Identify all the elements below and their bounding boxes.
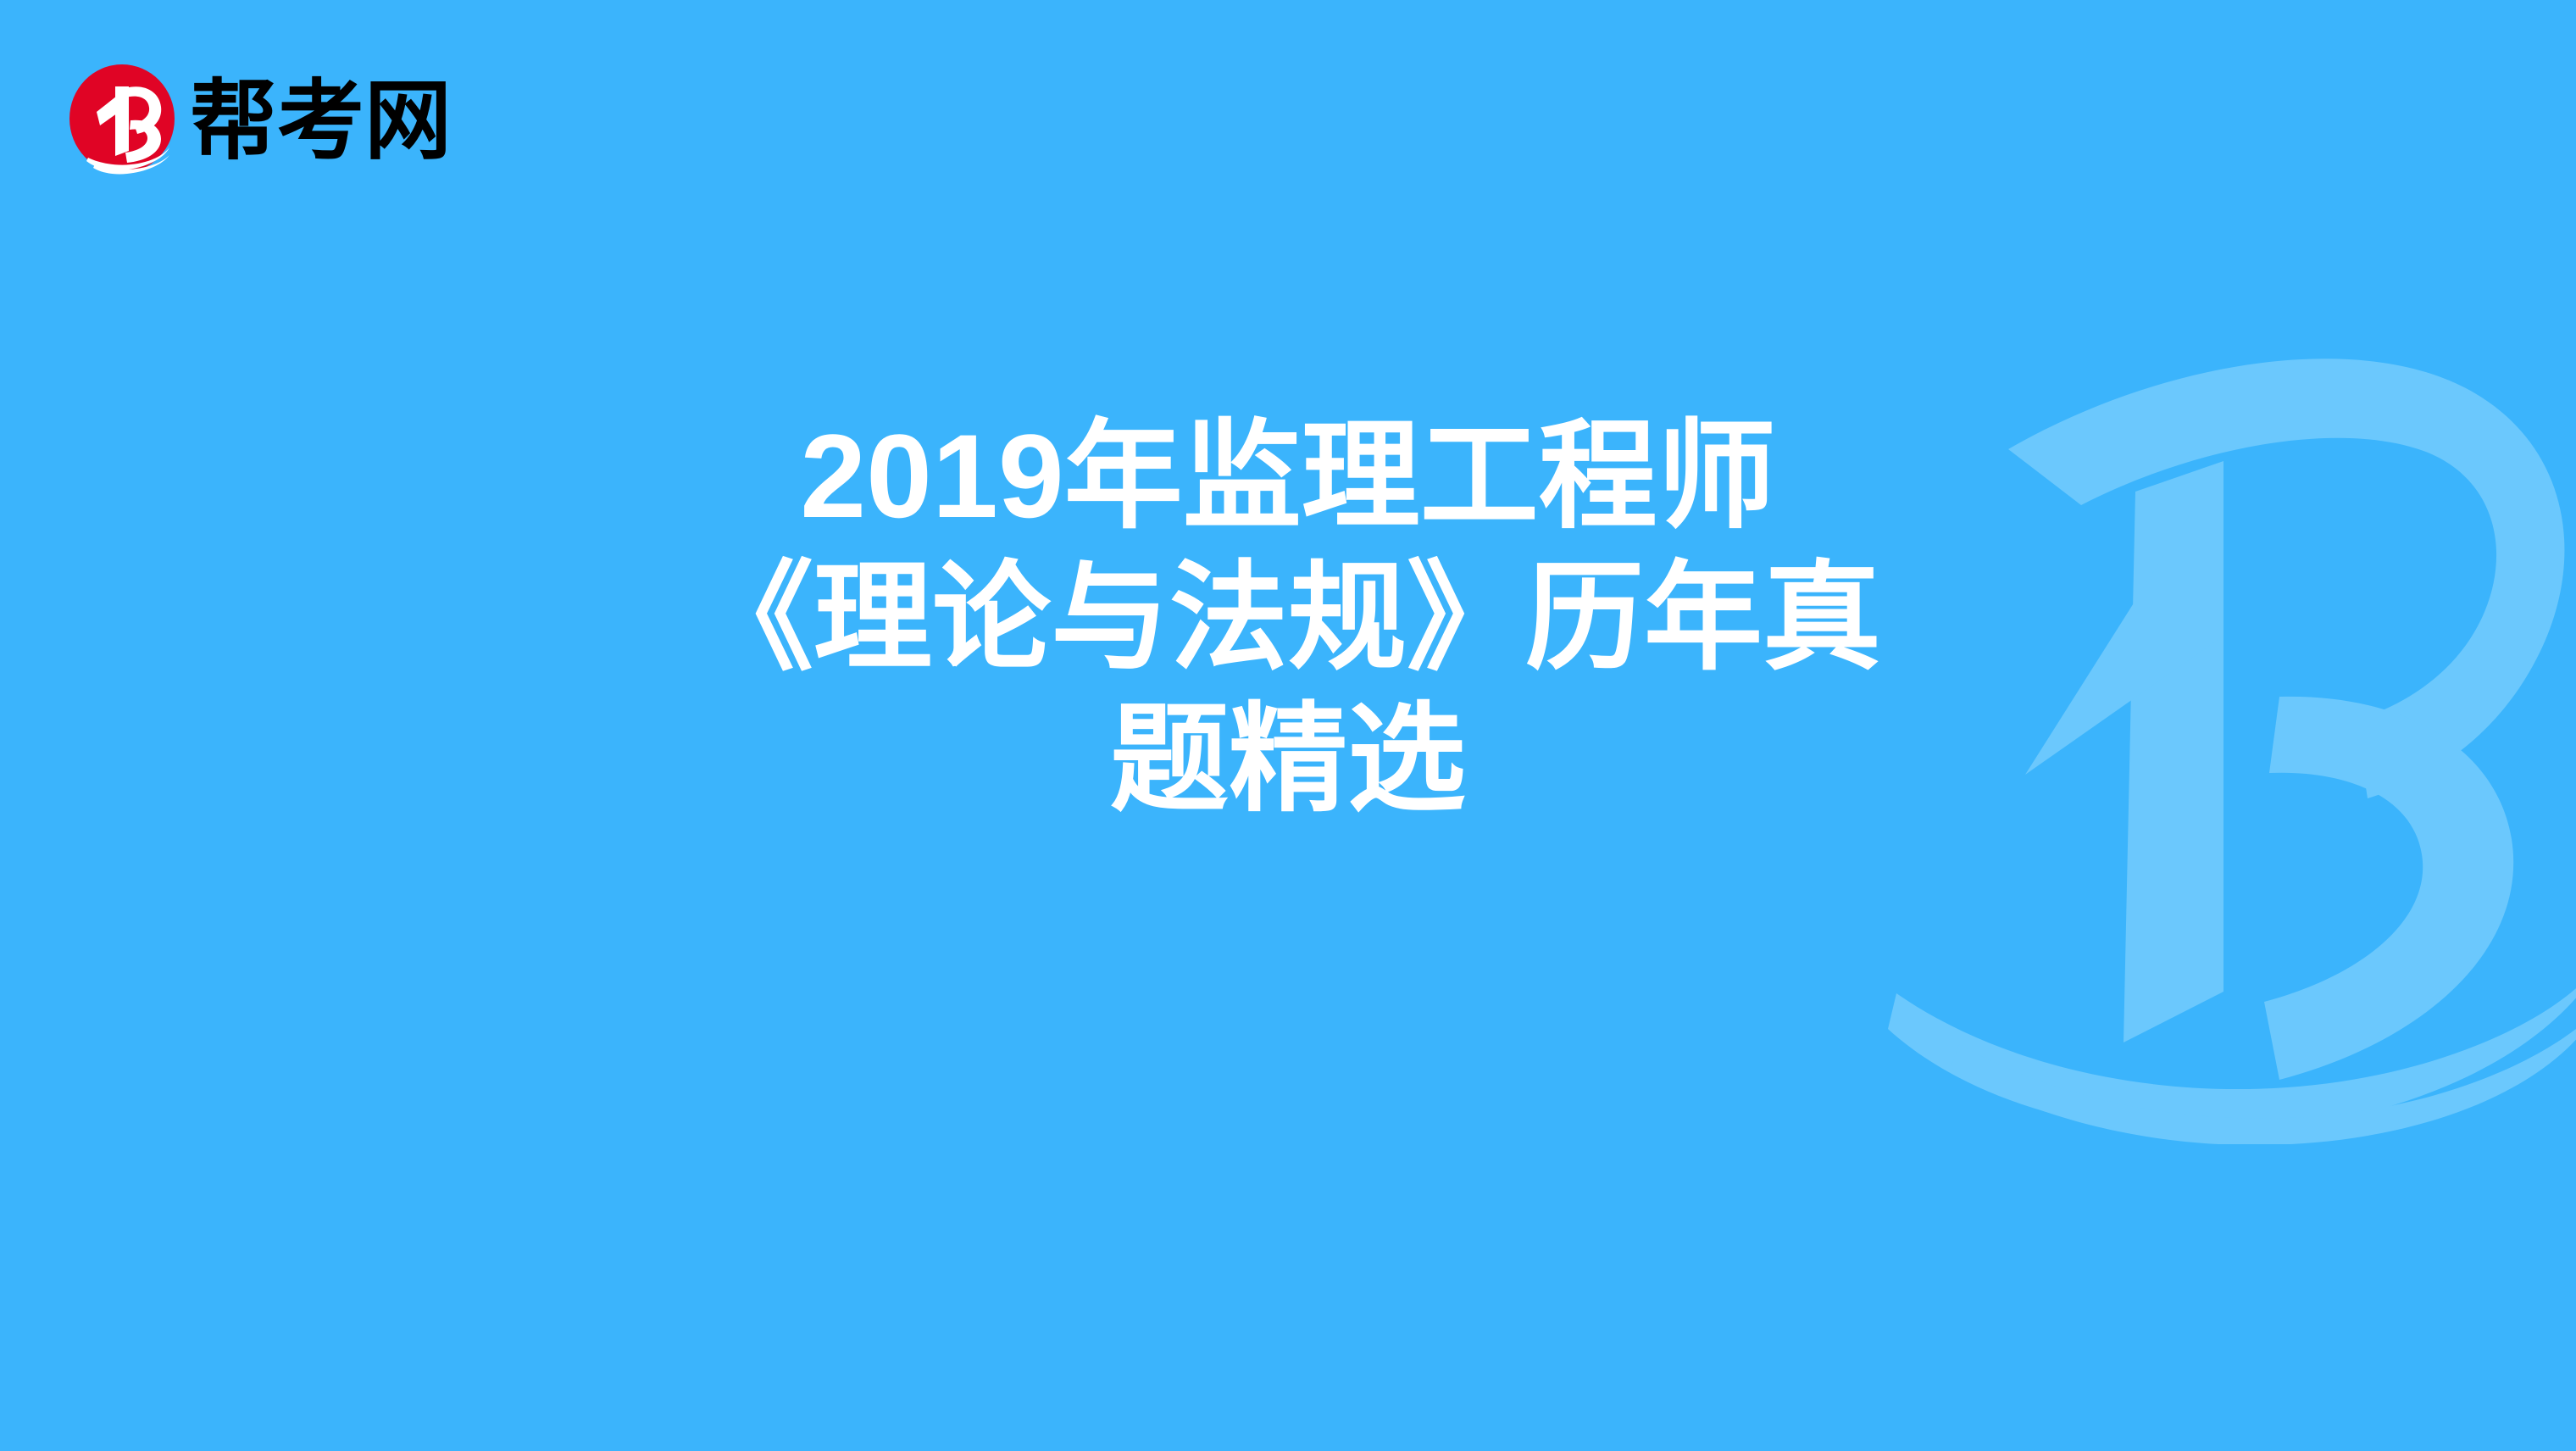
headline-line-3: 题精选 — [119, 688, 2457, 830]
bangkao-b-circle-logo-icon — [66, 63, 178, 175]
brand-logo: 帮考网 — [66, 63, 452, 175]
headline-line-2: 《理论与法规》历年真 — [119, 547, 2457, 688]
headline-line-1: 2019年监理工程师 — [119, 405, 2457, 547]
page-title: 2019年监理工程师 《理论与法规》历年真 题精选 — [0, 405, 2576, 830]
poster-canvas: 帮考网 2019年监理工程师 《理论与法规》历年真 题精选 — [0, 0, 2576, 1451]
brand-wordmark: 帮考网 — [190, 77, 452, 164]
